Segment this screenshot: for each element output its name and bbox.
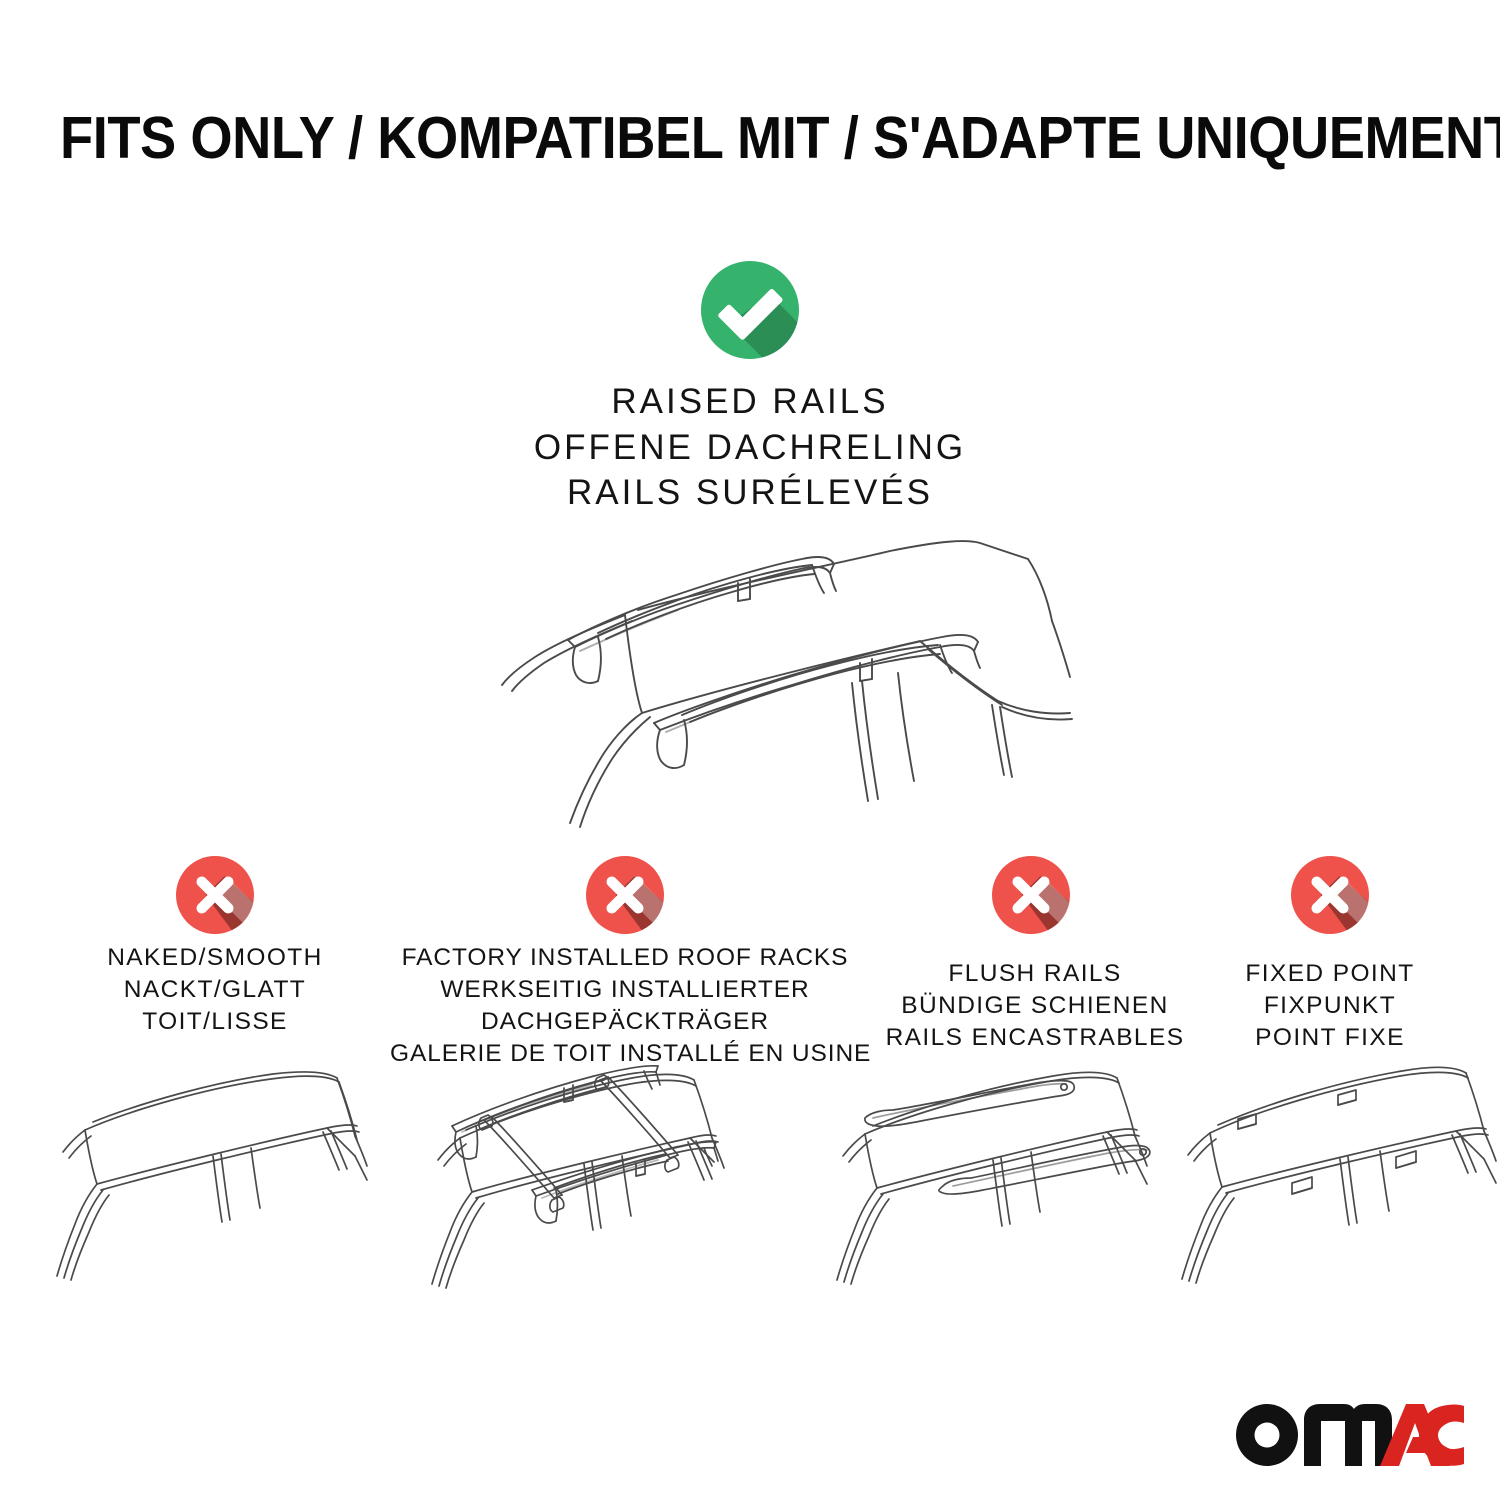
compatible-line-1: RAISED RAILS (0, 379, 1500, 425)
incompatible-caption-factory-racks: FACTORY INSTALLED ROOF RACKS WERKSEITIG … (390, 942, 860, 1069)
caption-line: BÜNDIGE SCHIENEN (845, 990, 1225, 1022)
caption-line: WERKSEITIG INSTALLIERTER (390, 974, 860, 1006)
car-roof-naked-smooth-illustration (55, 1062, 395, 1292)
incompatible-caption-flush-rails: FLUSH RAILS BÜNDIGE SCHIENEN RAILS ENCAS… (845, 958, 1225, 1054)
caption-line: FACTORY INSTALLED ROOF RACKS (390, 942, 860, 974)
x-circle-icon (586, 856, 664, 934)
caption-line: NAKED/SMOOTH (25, 942, 405, 974)
caption-line: FIXED POINT (1175, 958, 1485, 990)
car-roof-flush-rails-illustration (835, 1060, 1175, 1290)
caption-line: POINT FIXE (1175, 1022, 1485, 1054)
check-circle-icon (701, 261, 799, 359)
x-circle-icon (992, 856, 1070, 934)
car-roof-factory-rack-illustration (418, 1052, 768, 1292)
caption-line: FIXPUNKT (1175, 990, 1485, 1022)
x-circle-icon (176, 856, 254, 934)
caption-line: DACHGEPÄCKTRÄGER (390, 1006, 860, 1038)
incompatible-caption-fixed-point: FIXED POINT FIXPUNKT POINT FIXE (1175, 958, 1485, 1054)
car-roof-raised-rails-illustration (420, 515, 1090, 835)
car-roof-fixed-point-illustration (1180, 1055, 1500, 1290)
incompatible-caption-naked-smooth: NAKED/SMOOTH NACKT/GLATT TOIT/LISSE (25, 942, 405, 1038)
page-title: FITS ONLY / KOMPATIBEL MIT / S'ADAPTE UN… (60, 104, 1440, 172)
fitment-infographic: FITS ONLY / KOMPATIBEL MIT / S'ADAPTE UN… (0, 0, 1500, 1500)
caption-line: NACKT/GLATT (25, 974, 405, 1006)
omac-logo (1236, 1404, 1464, 1471)
compatible-line-2: OFFENE DACHRELING (0, 425, 1500, 471)
x-circle-icon (1291, 856, 1369, 934)
caption-line: FLUSH RAILS (845, 958, 1225, 990)
compatible-caption: RAISED RAILS OFFENE DACHRELING RAILS SUR… (0, 379, 1500, 516)
caption-line: RAILS ENCASTRABLES (845, 1022, 1225, 1054)
caption-line: TOIT/LISSE (25, 1006, 405, 1038)
compatible-line-3: RAILS SURÉLEVÉS (0, 470, 1500, 516)
